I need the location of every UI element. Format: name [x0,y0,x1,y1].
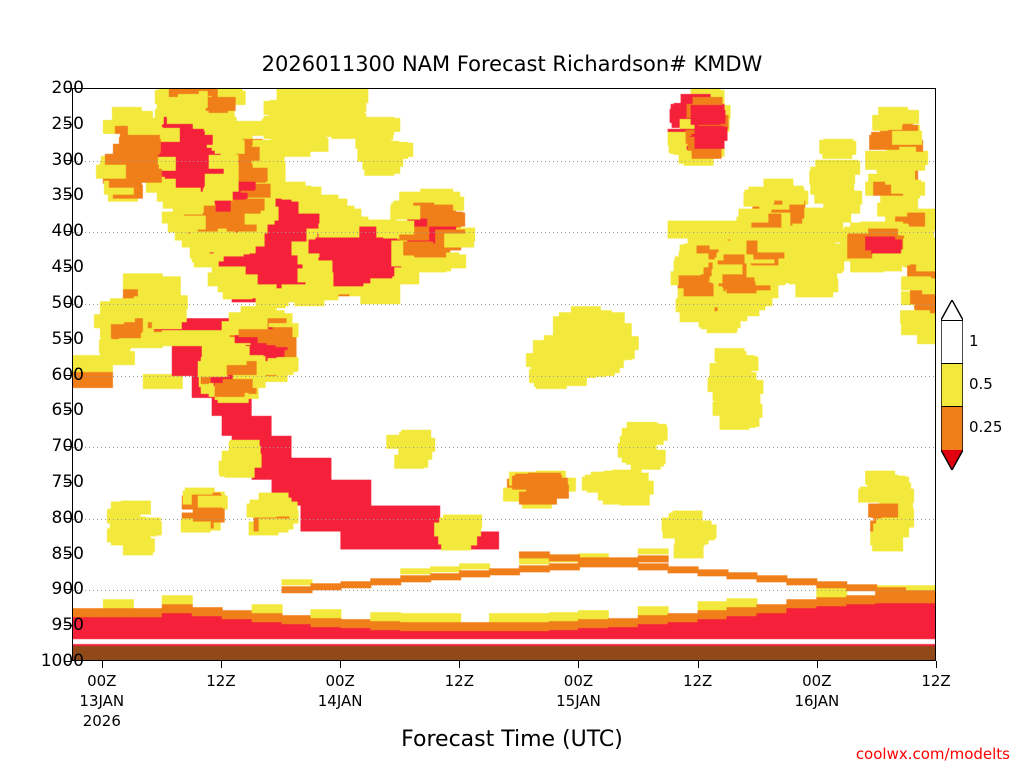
y-axis-tick-mark [64,589,72,590]
y-axis-tick-mark [64,231,72,232]
heatmap-canvas [73,89,935,660]
credit-text: coolwx.com/modelts [856,745,1010,763]
colorbar-tick-label: 1 [969,332,979,350]
x-axis-tick-label: 12Z [683,672,712,690]
y-axis-tick-mark [64,267,72,268]
chart-title: 2026011300 NAM Forecast Richardson# KMDW [0,52,1024,76]
y-axis-tick-mark [64,625,72,626]
x-axis-year-label: 2026 [83,712,121,730]
y-axis-tick-mark [64,482,72,483]
x-axis-day-label: 14JAN [318,692,363,710]
plot-area [72,88,936,661]
x-axis-tick-label: 00Z [325,672,354,690]
colorbar-outline-icon [941,300,963,470]
y-axis-tick-mark [64,375,72,376]
y-axis-tick-label: 1000 [41,651,84,671]
x-axis-tick-label: 12Z [206,672,235,690]
y-axis-tick-mark [64,195,72,196]
y-axis-tick-mark [64,518,72,519]
x-axis-tick-mark [817,661,818,668]
y-axis-tick-mark [64,88,72,89]
x-axis-tick-label: 00Z [87,672,116,690]
colorbar-tick-label: 0.5 [969,375,993,393]
colorbar [941,300,963,470]
y-axis-tick-mark [64,303,72,304]
colorbar-divider [941,320,963,321]
colorbar-tick-label: 0.25 [969,418,1002,436]
y-axis-tick-mark [64,410,72,411]
x-axis-day-label: 16JAN [794,692,839,710]
colorbar-divider [941,363,963,364]
x-axis-tick-mark [221,661,222,668]
x-axis-tick-mark [698,661,699,668]
y-axis-tick-mark [64,339,72,340]
x-axis-tick-mark [459,661,460,668]
x-axis-day-label: 15JAN [556,692,601,710]
x-axis-tick-mark [578,661,579,668]
x-axis-tick-mark [340,661,341,668]
x-axis-tick-label: 00Z [564,672,593,690]
y-axis-tick-mark [64,160,72,161]
y-axis-tick-mark [64,446,72,447]
y-axis-tick-mark [64,661,72,662]
colorbar-divider [941,406,963,407]
y-axis-tick-mark [64,124,72,125]
x-axis-tick-mark [936,661,937,668]
x-axis-tick-label: 12Z [445,672,474,690]
y-axis-tick-mark [64,554,72,555]
x-axis-tick-label: 12Z [921,672,950,690]
x-axis-tick-mark [102,661,103,668]
x-axis-day-label: 13JAN [79,692,124,710]
x-axis-tick-label: 00Z [802,672,831,690]
